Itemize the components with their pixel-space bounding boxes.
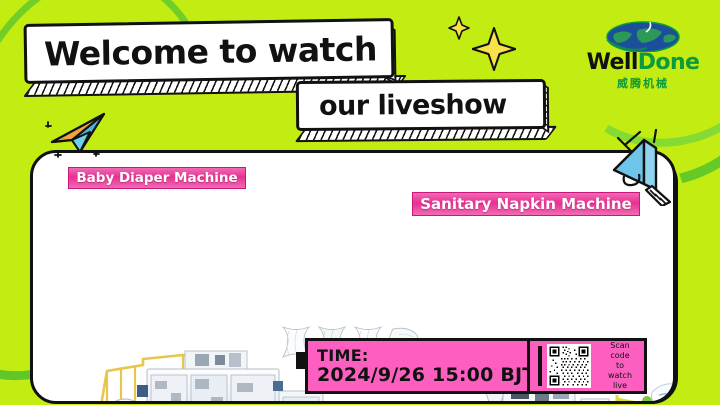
sparkle-icon-small bbox=[448, 16, 470, 40]
headline-line-1: Welcome to watch bbox=[44, 29, 378, 73]
time-label: TIME: bbox=[317, 348, 542, 365]
time-value: 2024/9/26 15:00 BJT bbox=[317, 365, 542, 387]
globe-icon bbox=[580, 18, 706, 52]
time-banner: TIME: 2024/9/26 15:00 BJT bbox=[305, 338, 545, 394]
sparkle-icon-large bbox=[472, 26, 516, 72]
qr-banner: Scan code to watch live bbox=[527, 338, 647, 394]
qr-caption-line-2: code bbox=[596, 351, 644, 361]
qr-caption-line-4: watch bbox=[596, 371, 644, 381]
qr-caption-line-5: live bbox=[596, 381, 644, 391]
logo-name-part-1: Well bbox=[587, 50, 638, 75]
qr-caption-line-3: to bbox=[596, 361, 644, 371]
headline-line-2: our liveshow bbox=[319, 89, 507, 122]
headline-banner-2: our liveshow bbox=[296, 79, 546, 131]
brand-logo: WellDone 威腾机械 bbox=[580, 18, 706, 74]
label-baby-diaper-machine: Baby Diaper Machine bbox=[68, 167, 246, 189]
poster-canvas: Baby Diaper Machine Sanitary Napkin Mach… bbox=[0, 0, 720, 405]
logo-chinese-name: 威腾机械 bbox=[580, 75, 706, 91]
logo-name-part-2: Done bbox=[638, 50, 700, 75]
qr-code-icon[interactable] bbox=[547, 344, 591, 388]
qr-caption: Scan code to watch live bbox=[596, 341, 644, 391]
paper-plane-icon bbox=[44, 108, 112, 160]
qr-divider bbox=[538, 346, 542, 386]
time-banner-tab bbox=[296, 352, 308, 369]
logo-wordmark: WellDone bbox=[580, 52, 706, 74]
headline-banner-1: Welcome to watch bbox=[24, 18, 395, 84]
qr-caption-line-1: Scan bbox=[596, 341, 644, 351]
megaphone-icon bbox=[600, 128, 680, 206]
